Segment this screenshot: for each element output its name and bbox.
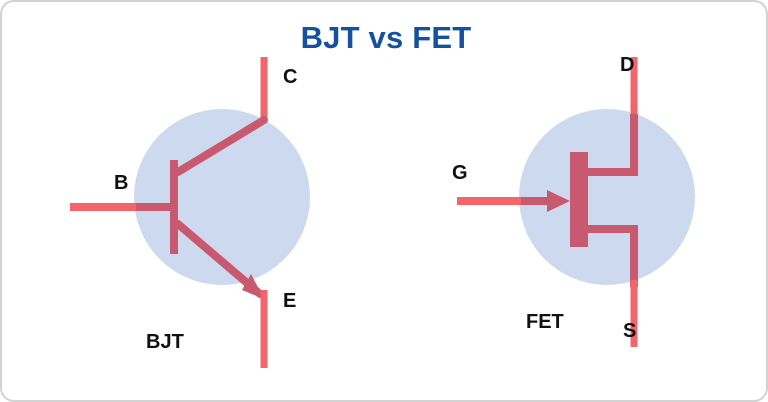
bjt-base-label: B [114, 172, 128, 195]
bjt-emitter-label: E [283, 290, 296, 313]
fet-gate-label: G [452, 162, 468, 185]
bjt-caption: BJT [146, 331, 184, 354]
bjt-symbol-group [70, 57, 310, 368]
transistor-diagram-canvas [2, 2, 768, 402]
fet-channel-bar [570, 152, 588, 247]
fet-symbol-group [457, 57, 695, 347]
diagram-card: BJT vs FET [0, 0, 768, 402]
fet-source-label: S [623, 320, 636, 343]
fet-drain-label: D [620, 54, 634, 77]
fet-caption: FET [526, 311, 564, 334]
bjt-collector-label: C [283, 66, 297, 89]
